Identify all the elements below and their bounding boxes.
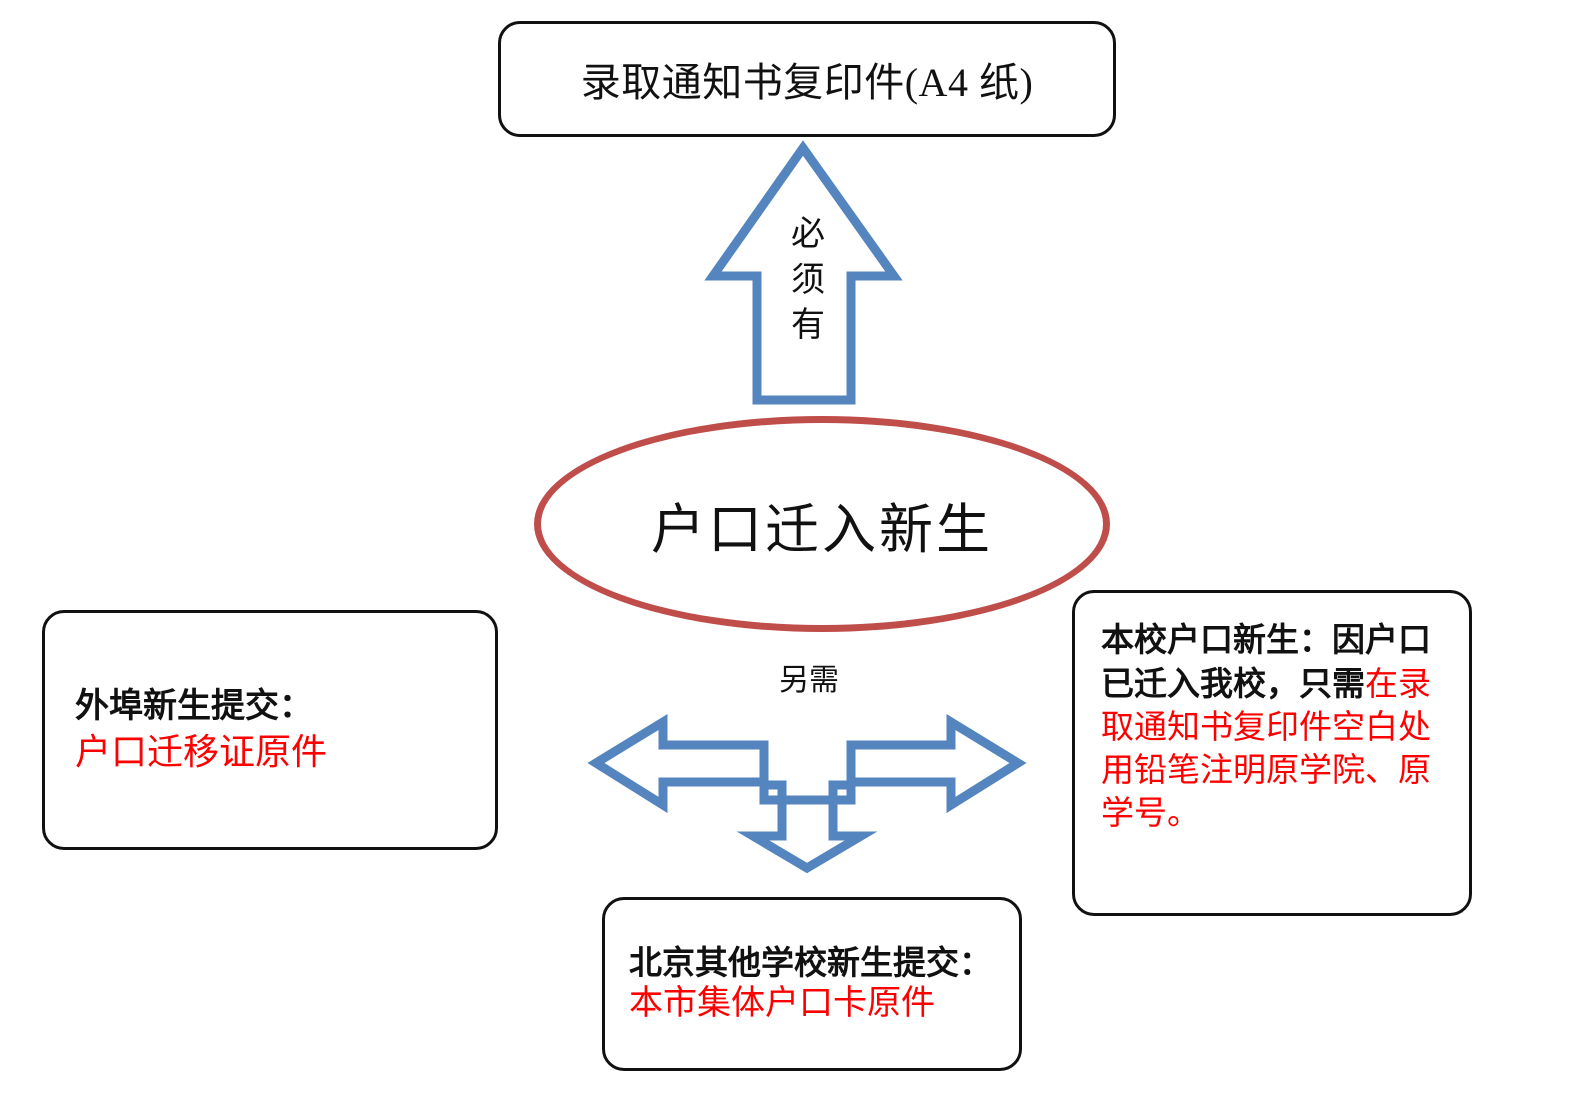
node-household-transfer-freshman[interactable]: 户口迁入新生 <box>534 416 1110 632</box>
node-own-school-freshman-content: 本校户口新生：因户口已迁入我校，只需在录取通知书复印件空白处用铅笔注明原学院、原… <box>1101 619 1459 835</box>
diagram-canvas: 录取通知书复印件(A4 纸) 必 须 有 户口迁入新生 另需 外埠新生提交： 户… <box>0 0 1586 1106</box>
node-other-beijing-school-freshman-heading: 北京其他学校新生提交： <box>629 942 992 984</box>
node-out-of-town-freshman[interactable]: 外埠新生提交： 户口迁移证原件 <box>42 610 498 850</box>
node-own-school-freshman-heading: 本校户口新生： <box>1101 620 1332 659</box>
node-household-transfer-freshman-label: 户口迁入新生 <box>651 485 993 564</box>
node-own-school-freshman[interactable]: 本校户口新生：因户口已迁入我校，只需在录取通知书复印件空白处用铅笔注明原学院、原… <box>1072 590 1472 916</box>
node-other-beijing-school-freshman-content: 北京其他学校新生提交： 本市集体户口卡原件 <box>629 942 992 1026</box>
node-admission-notice-copy[interactable]: 录取通知书复印件(A4 纸) <box>498 21 1116 137</box>
node-other-beijing-school-freshman-item: 本市集体户口卡原件 <box>629 983 992 1026</box>
node-other-beijing-school-freshman[interactable]: 北京其他学校新生提交： 本市集体户口卡原件 <box>602 897 1022 1071</box>
node-admission-notice-copy-label: 录取通知书复印件(A4 纸) <box>581 50 1034 108</box>
up-arrow-label-char-3: 有 <box>780 303 836 349</box>
node-out-of-town-freshman-item: 户口迁移证原件 <box>75 729 327 775</box>
node-out-of-town-freshman-content: 外埠新生提交： 户口迁移证原件 <box>75 685 327 775</box>
node-out-of-town-freshman-heading: 外埠新生提交： <box>75 685 327 729</box>
up-arrow-label-char-1: 必 <box>780 212 836 258</box>
tri-arrow-shape <box>596 722 1018 868</box>
up-arrow-label-char-2: 须 <box>780 258 836 304</box>
up-arrow-label: 必 须 有 <box>780 212 836 349</box>
tri-arrow-label: 另需 <box>709 655 909 699</box>
